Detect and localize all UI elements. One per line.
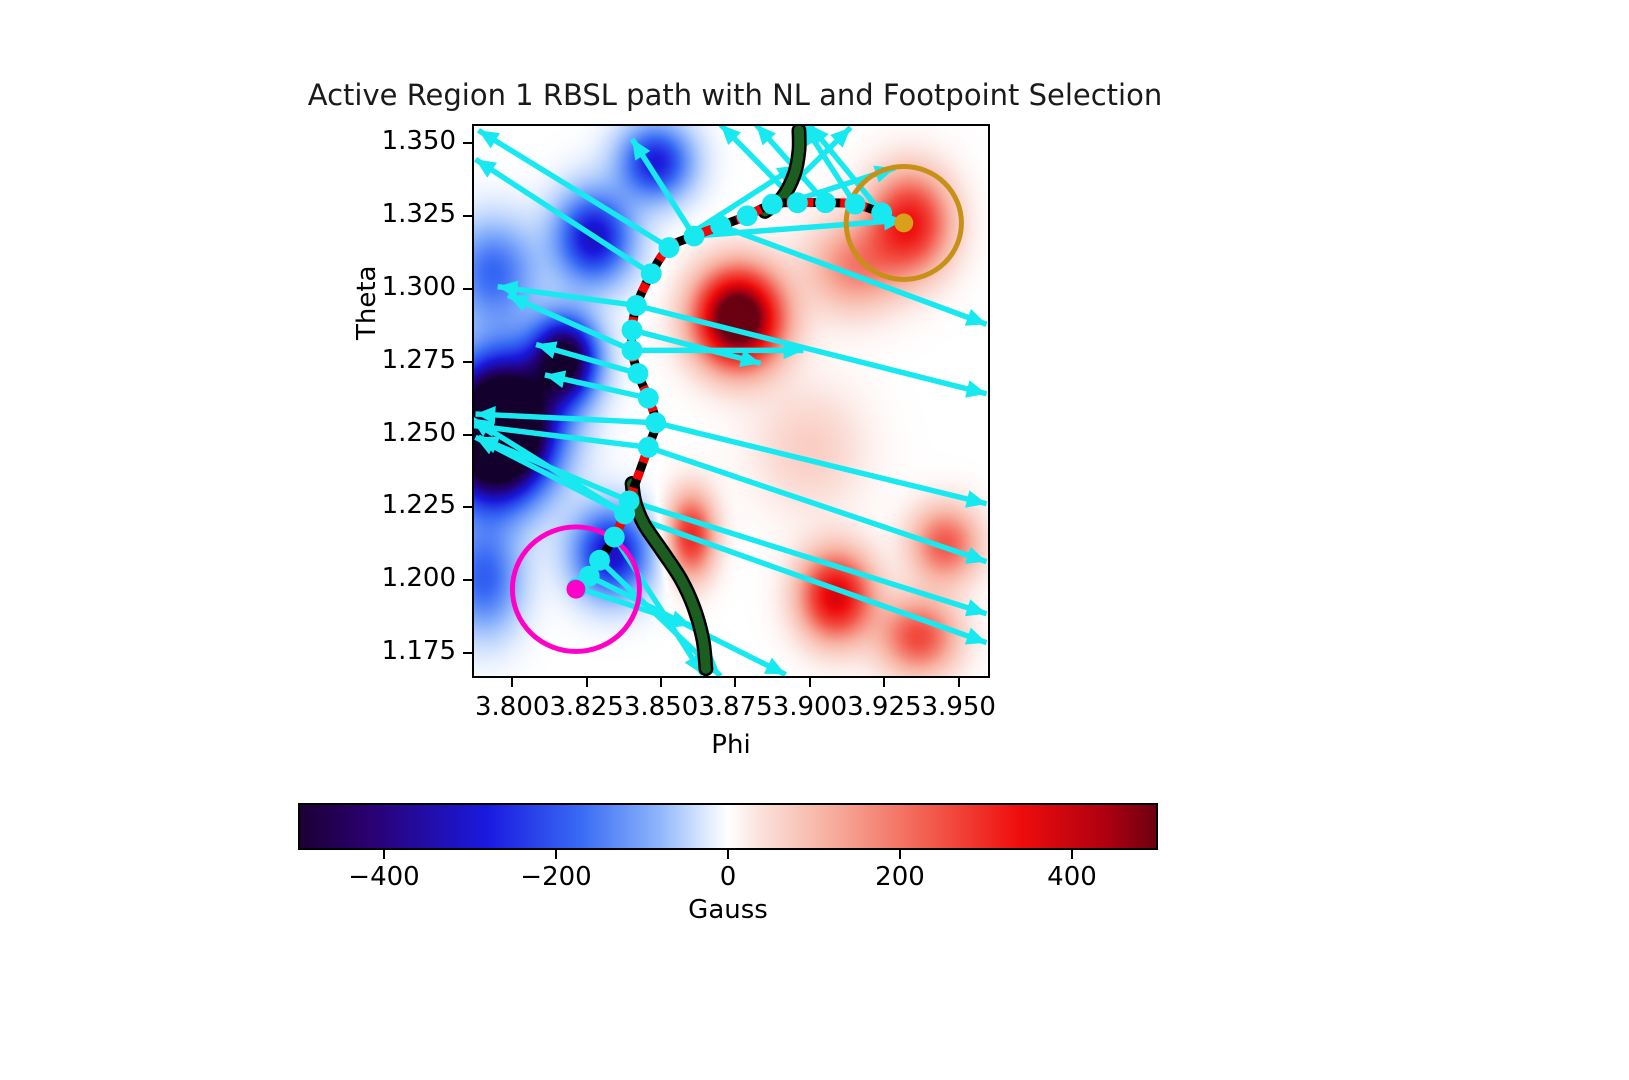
field-arrow-head [965, 628, 987, 645]
y-axis-tick-mark [463, 215, 472, 217]
x-axis-tick-mark [511, 678, 513, 687]
rbsl-path-marker [815, 192, 836, 213]
field-arrow-head [965, 599, 987, 616]
x-axis-tick-label: 3.950 [904, 692, 1014, 722]
rbsl-path-marker [626, 295, 647, 316]
rbsl-path-marker [645, 412, 666, 433]
colorbar-label: Gauss [298, 895, 1158, 925]
field-arrow-head [965, 547, 987, 564]
y-axis-tick-mark [463, 142, 472, 144]
rbsl-path-marker [622, 340, 643, 361]
rbsl-path-marker [737, 205, 758, 226]
footpoint-center-marker [566, 580, 585, 599]
colorbar-tick-mark [1071, 850, 1073, 859]
field-arrow-shaft [478, 437, 629, 501]
y-axis-tick-label: 1.300 [382, 272, 456, 302]
colorbar-tick-mark [383, 850, 385, 859]
colorbar-tick-label: −400 [324, 862, 444, 892]
field-arrow-shaft [721, 226, 987, 324]
rbsl-path-marker [641, 263, 662, 284]
rbsl-path-marker [622, 320, 643, 341]
rbsl-path-marker [684, 226, 705, 247]
colorbar-tick-label: 200 [840, 862, 960, 892]
rbsl-path-marker [604, 527, 625, 548]
x-axis-label: Phi [472, 730, 990, 760]
field-arrow-shaft [656, 423, 987, 504]
field-arrow-head [965, 309, 987, 326]
colorbar-tick-label: −200 [496, 862, 616, 892]
rbsl-path-marker [619, 490, 640, 511]
rbsl-path-marker [638, 437, 659, 458]
y-axis-tick-label: 1.225 [382, 490, 456, 520]
x-axis-tick-mark [660, 678, 662, 687]
y-axis-tick-label: 1.200 [382, 563, 456, 593]
y-axis-label: Theta [352, 266, 382, 340]
y-axis-tick-label: 1.175 [382, 636, 456, 666]
footpoint-center-marker [894, 214, 913, 233]
overlay-annotations [474, 126, 988, 676]
y-axis-tick-mark [463, 288, 472, 290]
colorbar-tick-label: 400 [1012, 862, 1132, 892]
x-axis-tick-mark [734, 678, 736, 687]
y-axis-tick-label: 1.250 [382, 418, 456, 448]
colorbar-tick-label: 0 [668, 862, 788, 892]
rbsl-path-marker [871, 202, 892, 223]
field-arrow-head [669, 611, 691, 628]
y-axis-tick-mark [463, 506, 472, 508]
y-axis-tick-label: 1.350 [382, 126, 456, 156]
y-axis-tick-mark [463, 579, 472, 581]
colorbar-tick-mark [727, 850, 729, 859]
x-axis-tick-mark [958, 678, 960, 687]
colorbar-tick-mark [555, 850, 557, 859]
y-axis-tick-label: 1.275 [382, 345, 456, 375]
field-arrow-shaft [475, 159, 651, 273]
y-axis-tick-mark [463, 652, 472, 654]
figure-canvas: Active Region 1 RBSL path with NL and Fo… [0, 0, 1629, 1080]
rbsl-path-marker [628, 363, 649, 384]
y-axis-tick-mark [463, 434, 472, 436]
rbsl-path-marker [787, 192, 808, 213]
field-direction-arrows [474, 126, 987, 676]
rbsl-path-marker [845, 194, 866, 215]
x-axis-tick-mark [809, 678, 811, 687]
magnetogram-axes[interactable] [472, 124, 990, 678]
field-arrow-shaft [475, 414, 655, 423]
x-axis-tick-mark [586, 678, 588, 687]
field-arrow-shaft [632, 330, 761, 363]
field-arrow-shaft [475, 437, 624, 514]
rbsl-path-marker [589, 550, 610, 571]
rbsl-path-marker [659, 237, 680, 258]
colorbar-tick-mark [899, 850, 901, 859]
page-title: Active Region 1 RBSL path with NL and Fo… [305, 78, 1165, 112]
rbsl-path-marker [710, 215, 731, 236]
y-axis-tick-label: 1.325 [382, 199, 456, 229]
rbsl-path-marker [762, 194, 783, 215]
x-axis-tick-mark [883, 678, 885, 687]
rbsl-path-marker [638, 388, 659, 409]
colorbar [298, 803, 1158, 850]
y-axis-tick-mark [463, 361, 472, 363]
